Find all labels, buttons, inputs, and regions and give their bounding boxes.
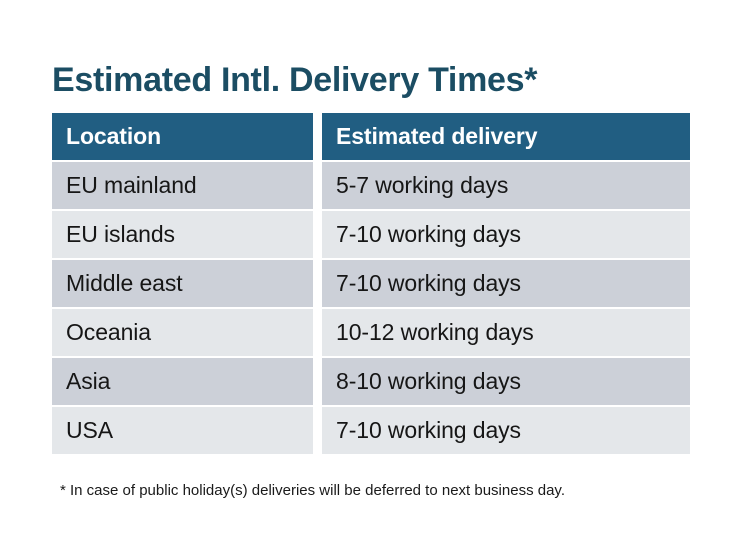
column-header-estimated-delivery: Estimated delivery [322, 113, 690, 160]
cell-estimated-delivery: 7-10 working days [322, 407, 690, 454]
cell-estimated-delivery: 5-7 working days [322, 162, 690, 209]
cell-estimated-delivery: 10-12 working days [322, 309, 690, 356]
table-row: Asia 8-10 working days [52, 358, 690, 405]
table-header-row: Location Estimated delivery [52, 113, 690, 160]
table-row: Oceania 10-12 working days [52, 309, 690, 356]
table-row: Middle east 7-10 working days [52, 260, 690, 307]
cell-location: USA [52, 407, 313, 454]
cell-location: Asia [52, 358, 313, 405]
page-title: Estimated Intl. Delivery Times* [52, 59, 537, 101]
column-header-location: Location [52, 113, 313, 160]
cell-location: EU mainland [52, 162, 313, 209]
cell-estimated-delivery: 8-10 working days [322, 358, 690, 405]
delivery-times-page: Estimated Intl. Delivery Times* Location… [0, 0, 745, 536]
cell-estimated-delivery: 7-10 working days [322, 211, 690, 258]
table-row: EU islands 7-10 working days [52, 211, 690, 258]
delivery-times-table: Location Estimated delivery EU mainland … [52, 113, 690, 454]
table-row: USA 7-10 working days [52, 407, 690, 454]
footnote-text: * In case of public holiday(s) deliverie… [60, 481, 565, 501]
table-row: EU mainland 5-7 working days [52, 162, 690, 209]
cell-location: Middle east [52, 260, 313, 307]
cell-location: Oceania [52, 309, 313, 356]
cell-location: EU islands [52, 211, 313, 258]
cell-estimated-delivery: 7-10 working days [322, 260, 690, 307]
